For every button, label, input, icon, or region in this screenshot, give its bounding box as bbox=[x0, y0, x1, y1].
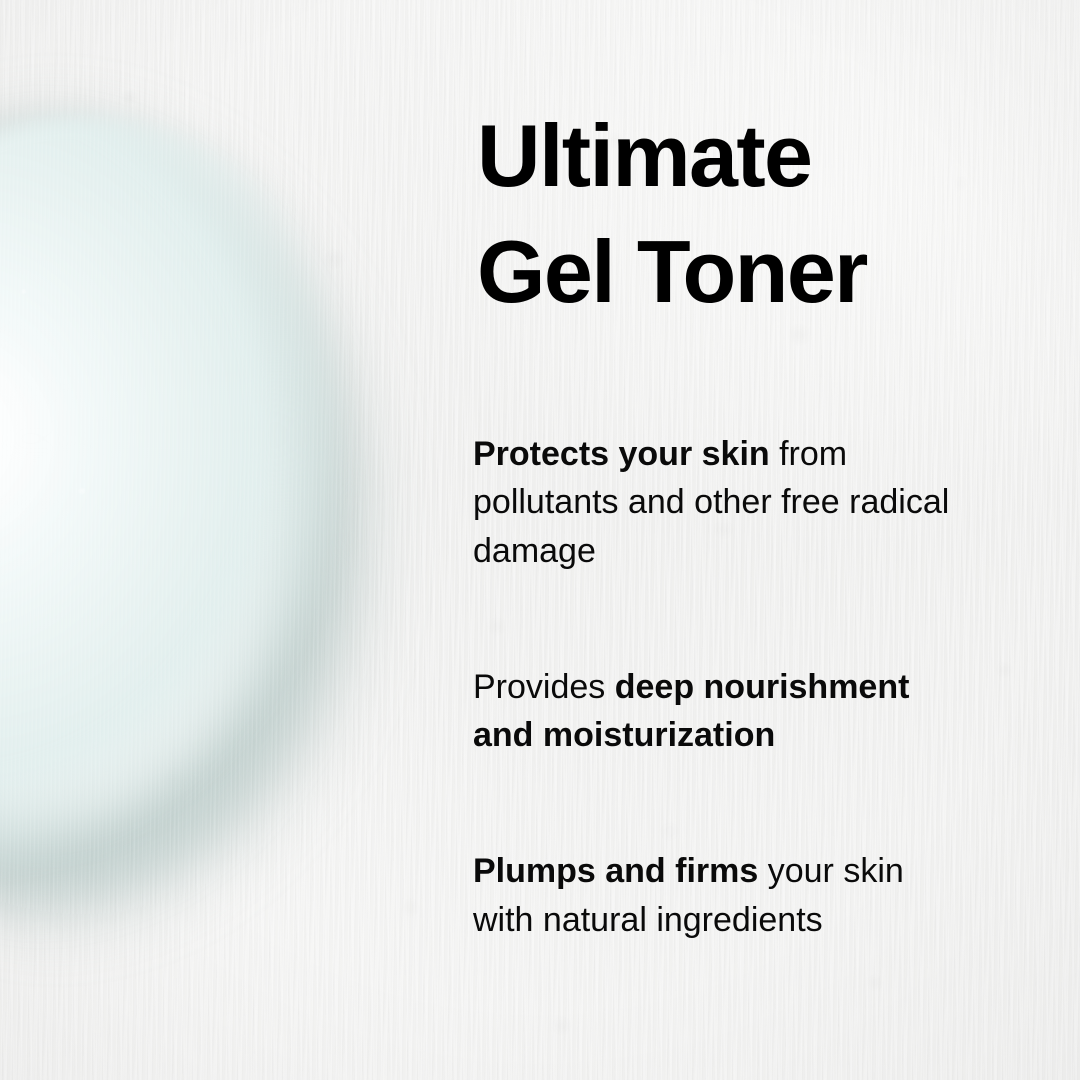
benefit-emphasis: Plumps and firms bbox=[473, 852, 758, 890]
benefit-list: Protects your skin from pollutants and o… bbox=[473, 396, 973, 944]
product-title: Ultimate Gel Toner bbox=[477, 98, 867, 330]
benefit-item-protects: Protects your skin from pollutants and o… bbox=[473, 430, 973, 575]
benefit-text: Provides bbox=[473, 668, 615, 706]
content-column: Ultimate Gel Toner Protects your skin fr… bbox=[473, 0, 1033, 1080]
benefit-item-plumps: Plumps and firms your skin with natural … bbox=[473, 847, 973, 944]
benefit-item-nourishes: Provides deep nourishment and moisturiza… bbox=[473, 663, 973, 760]
benefit-emphasis: Protects your skin bbox=[473, 435, 770, 473]
product-benefits-card: Ultimate Gel Toner Protects your skin fr… bbox=[0, 0, 1080, 1080]
gel-texture-swatch bbox=[0, 60, 460, 980]
